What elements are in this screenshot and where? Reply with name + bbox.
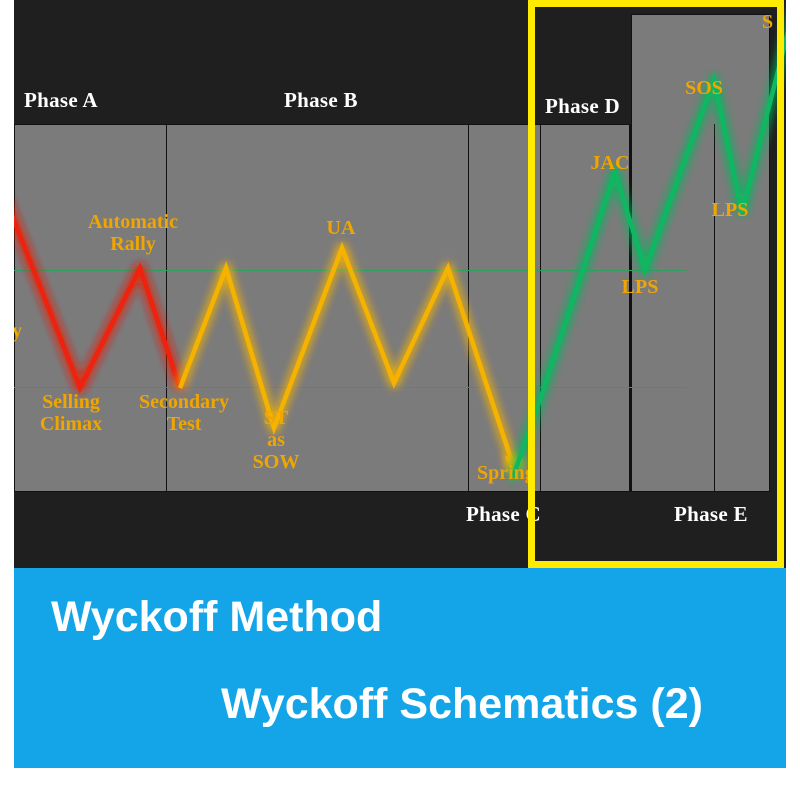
wyckoff-chart: Phase A Phase B Phase C Phase D Phase E … [14,0,786,568]
annotation-selling-climax-2: Climax [16,413,126,435]
annotation-st-as-sow-1: ST [236,407,316,429]
annotation-automatic-rally-2: Rally [68,233,198,255]
annotation-st-as-sow-2: as [236,429,316,451]
annotation-automatic-rally-1: Automatic [68,211,198,233]
annotation-selling-climax-1: Selling [16,391,126,413]
highlight-box-phases-d-e [528,0,784,568]
trading-range-orange-line [180,248,514,468]
phase-label-a: Phase A [24,88,98,113]
annotation-secondary-test-2: Test [114,413,254,435]
annotation-st-as-sow-3: SOW [236,451,316,473]
annotation-left-clipped: y [14,320,22,342]
annotation-spring: Spring [477,462,535,484]
phase-label-b: Phase B [284,88,358,113]
banner-title-line1: Wyckoff Method [51,593,382,642]
annotation-secondary-test-1: Secondary [114,391,254,413]
annotation-ua: UA [306,217,376,239]
banner-title-line2: Wyckoff Schematics (2) [221,680,703,729]
title-banner: Wyckoff Method Wyckoff Schematics (2) [14,568,786,768]
page-root: Phase A Phase B Phase C Phase D Phase E … [0,0,800,796]
